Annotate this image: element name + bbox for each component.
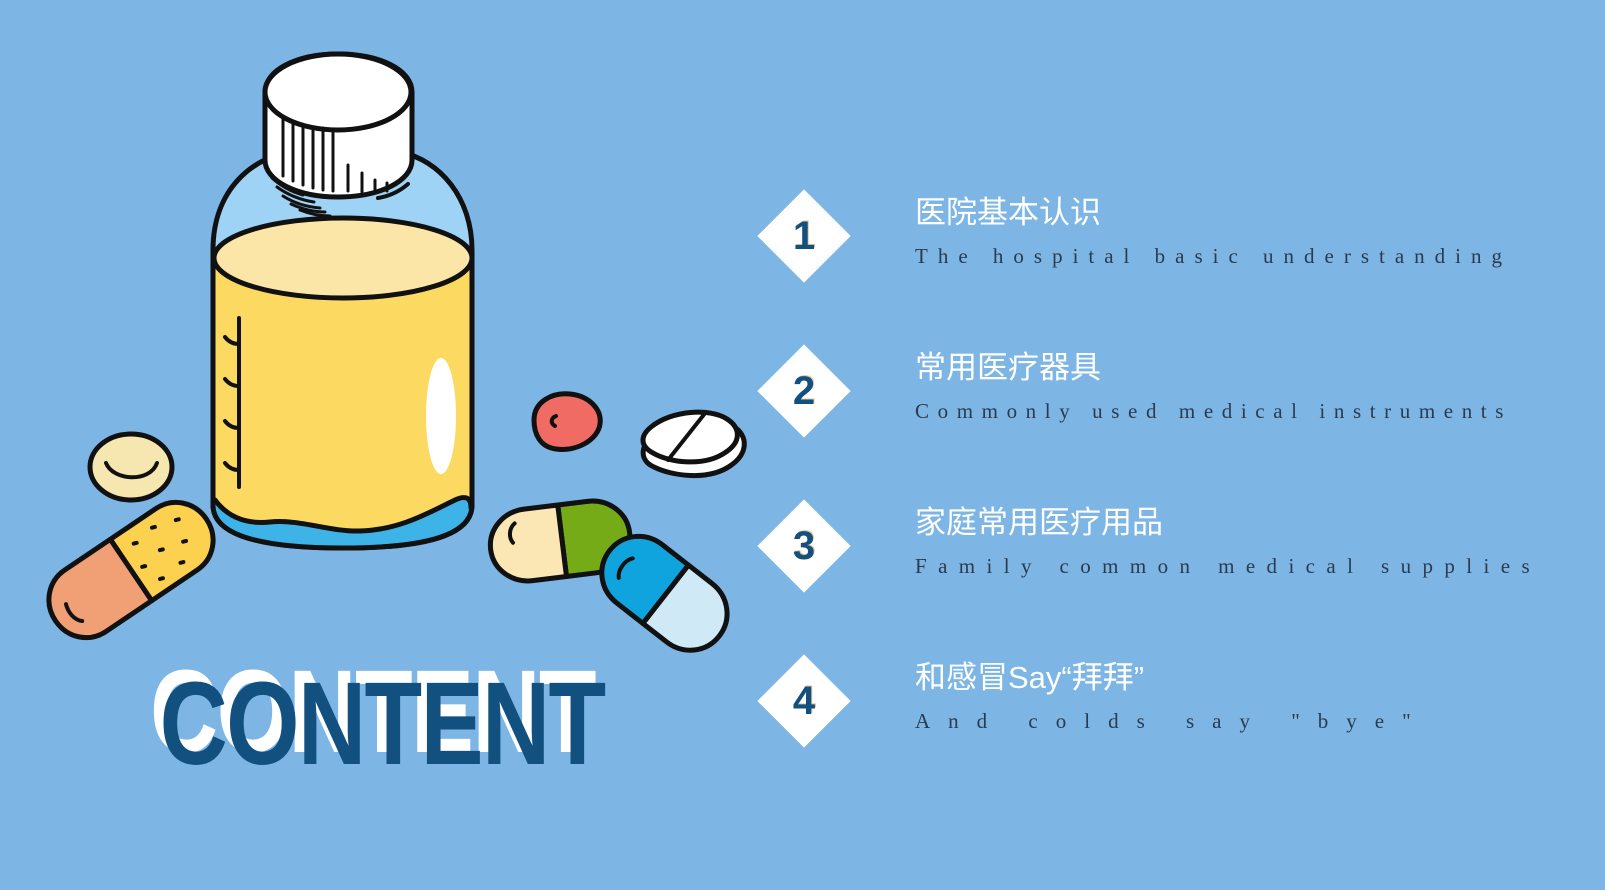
diamond-badge-4: 4: [760, 657, 848, 745]
agenda-list: 1 医院基本认识 The hospital basic understandin…: [760, 192, 1590, 812]
diamond-badge-1: 1: [760, 192, 848, 280]
diamond-badge-3: 3: [760, 502, 848, 590]
agenda-subtitle-en: Commonly used medical instruments: [915, 399, 1575, 424]
agenda-title-cn: 医院基本认识: [915, 194, 1575, 233]
bottle-shoulder: [213, 148, 472, 258]
agenda-subtitle-en: Family common medical supplies: [915, 554, 1575, 579]
bottle-base-liquid: [214, 498, 471, 549]
diamond-badge-2: 2: [760, 347, 848, 435]
pill-white-tablet: [643, 412, 744, 476]
page-title-main: CONTENT: [160, 657, 606, 778]
bottle-cap-underline: [378, 184, 408, 198]
agenda-text-block-1: 医院基本认识 The hospital basic understanding: [915, 194, 1575, 269]
pill-capsule-cream-green: [486, 497, 634, 586]
agenda-item-2[interactable]: 2 常用医疗器具 Commonly used medical instrumen…: [760, 347, 1590, 502]
agenda-title-cn: 和感冒Say“拜拜”: [915, 659, 1575, 698]
agenda-text-block-4: 和感冒Say“拜拜” And colds say "bye": [915, 659, 1575, 734]
agenda-text-block-3: 家庭常用医疗用品 Family common medical supplies: [915, 504, 1575, 579]
diamond-number: 3: [793, 526, 815, 566]
diamond-number: 2: [793, 371, 815, 411]
bottle-body: [213, 254, 472, 548]
bottle-cap: [265, 54, 412, 197]
pill-round-cream: [90, 434, 172, 500]
pill-capsule-cyan: [587, 521, 742, 665]
bottle-liquid-surface: [214, 218, 472, 298]
diamond-number: 1: [793, 216, 815, 256]
agenda-item-1[interactable]: 1 医院基本认识 The hospital basic understandin…: [760, 192, 1590, 347]
agenda-title-cn: 常用医疗器具: [915, 349, 1575, 388]
pill-red-oval: [534, 394, 600, 450]
agenda-subtitle-en: And colds say "bye": [915, 709, 1575, 734]
bottle-highlight: [426, 358, 456, 474]
agenda-title-cn: 家庭常用医疗用品: [915, 504, 1575, 543]
bottle-measure-scale: [225, 318, 239, 487]
page-title: CONTENT CONTENT: [150, 648, 620, 778]
agenda-item-4[interactable]: 4 和感冒Say“拜拜” And colds say "bye": [760, 657, 1590, 812]
agenda-item-3[interactable]: 3 家庭常用医疗用品 Family common medical supplie…: [760, 502, 1590, 657]
content-slide: CONTENT CONTENT 1 医院基本认识 The hospital ba…: [0, 0, 1605, 890]
diamond-number: 4: [793, 681, 815, 721]
agenda-subtitle-en: The hospital basic understanding: [915, 244, 1575, 269]
agenda-text-block-2: 常用医疗器具 Commonly used medical instruments: [915, 349, 1575, 424]
medicine-illustration: [0, 0, 780, 700]
bottle-neck-shading: [268, 170, 330, 216]
pill-capsule-orange-yellow: [35, 488, 227, 651]
bottle-cap-ridges: [283, 117, 387, 192]
